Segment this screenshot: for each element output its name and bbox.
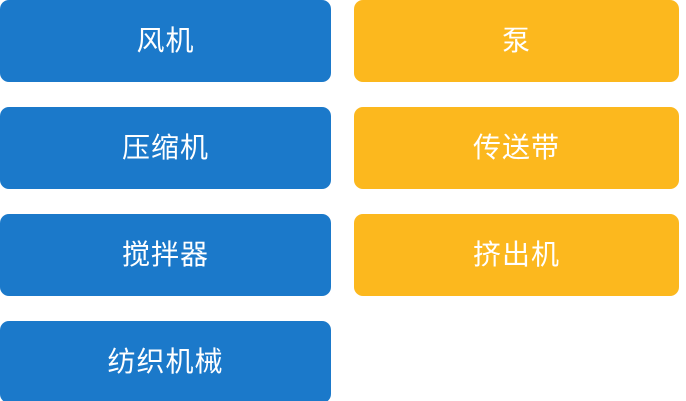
category-label: 压缩机 [122,134,209,162]
category-button-mixer[interactable]: 搅拌器 [0,214,331,296]
category-label: 搅拌器 [122,241,209,269]
category-button-fan[interactable]: 风机 [0,0,331,82]
category-button-extruder[interactable]: 挤出机 [354,214,679,296]
category-button-compressor[interactable]: 压缩机 [0,107,331,189]
category-label: 纺织机械 [107,348,223,376]
category-button-textile-machinery[interactable]: 纺织机械 [0,321,331,401]
category-label: 风机 [136,27,194,55]
category-label: 挤出机 [473,241,560,269]
category-button-conveyor-belt[interactable]: 传送带 [354,107,679,189]
orange-category-column: 泵 传送带 挤出机 [354,0,679,296]
category-button-board: 风机 压缩机 搅拌器 纺织机械 泵 传送带 挤出机 [0,0,686,401]
blue-category-column: 风机 压缩机 搅拌器 纺织机械 [0,0,331,401]
category-label: 传送带 [473,134,560,162]
category-button-pump[interactable]: 泵 [354,0,679,82]
category-label: 泵 [502,27,531,55]
